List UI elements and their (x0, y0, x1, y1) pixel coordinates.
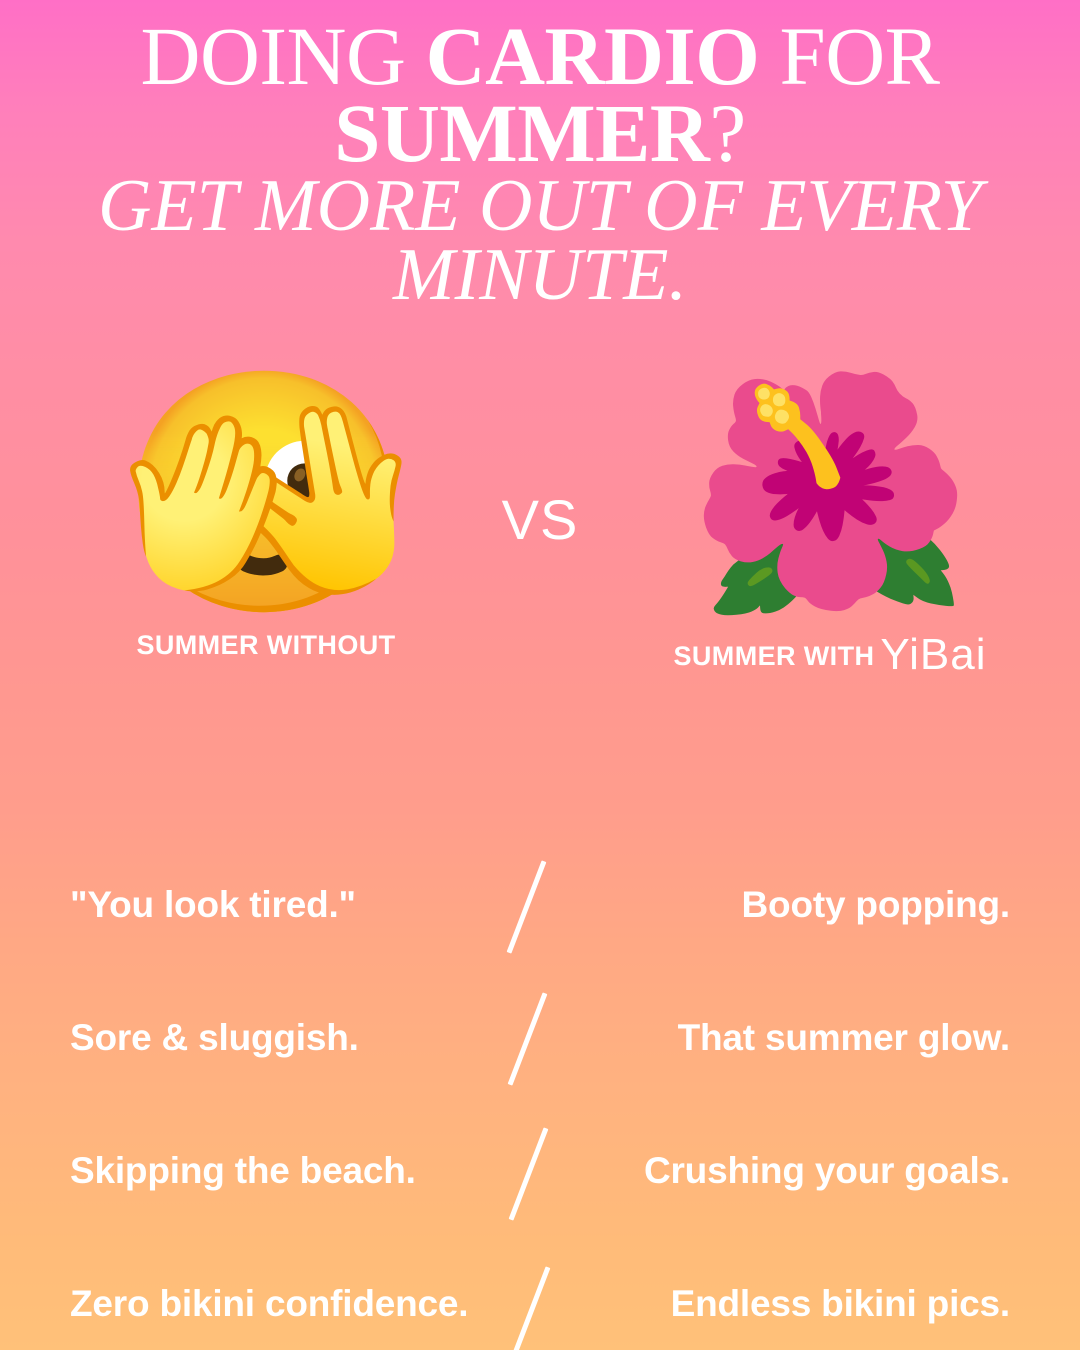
headline-line-3: GET MORE OUT OF EVERY (24, 172, 1056, 241)
row-positive-text: Endless bikini pics. (540, 1283, 1080, 1325)
brand-logotype: YiBai (880, 630, 986, 679)
row-positive-text: Booty popping. (540, 884, 1080, 926)
page-title: DOING CARDIO FOR SUMMER? GET MORE OUT OF… (0, 18, 1080, 310)
versus-label: VS (0, 487, 1080, 552)
headline-line-1-suffix: FOR (759, 10, 939, 102)
comparison-rows: "You look tired." Booty popping. Sore & … (0, 838, 1080, 1350)
poster-canvas: DOING CARDIO FOR SUMMER? GET MORE OUT OF… (0, 0, 1080, 1350)
comparison-row: Skipping the beach. Crushing your goals. (0, 1104, 1080, 1237)
row-negative-text: Sore & sluggish. (0, 1017, 540, 1059)
comparison-row: Zero bikini confidence. Endless bikini p… (0, 1237, 1080, 1350)
row-negative-text: Zero bikini confidence. (0, 1283, 540, 1325)
headline-line-1: DOING CARDIO FOR (24, 18, 1056, 95)
row-negative-text: Skipping the beach. (0, 1150, 540, 1192)
headline-line-2: SUMMER? (24, 95, 1056, 172)
comparison-label-with: SUMMER WITHYiBai (620, 630, 1040, 680)
row-negative-text: "You look tired." (0, 884, 540, 926)
comparison-row: "You look tired." Booty popping. (0, 838, 1080, 971)
comparison-label-with-text: SUMMER WITH (674, 641, 875, 671)
comparison-row: Sore & sluggish. That summer glow. (0, 971, 1080, 1104)
headline-line-4: MINUTE. (24, 241, 1056, 310)
row-positive-text: Crushing your goals. (540, 1150, 1080, 1192)
row-positive-text: That summer glow. (540, 1017, 1080, 1059)
comparison-label-without: SUMMER WITHOUT (56, 630, 476, 661)
